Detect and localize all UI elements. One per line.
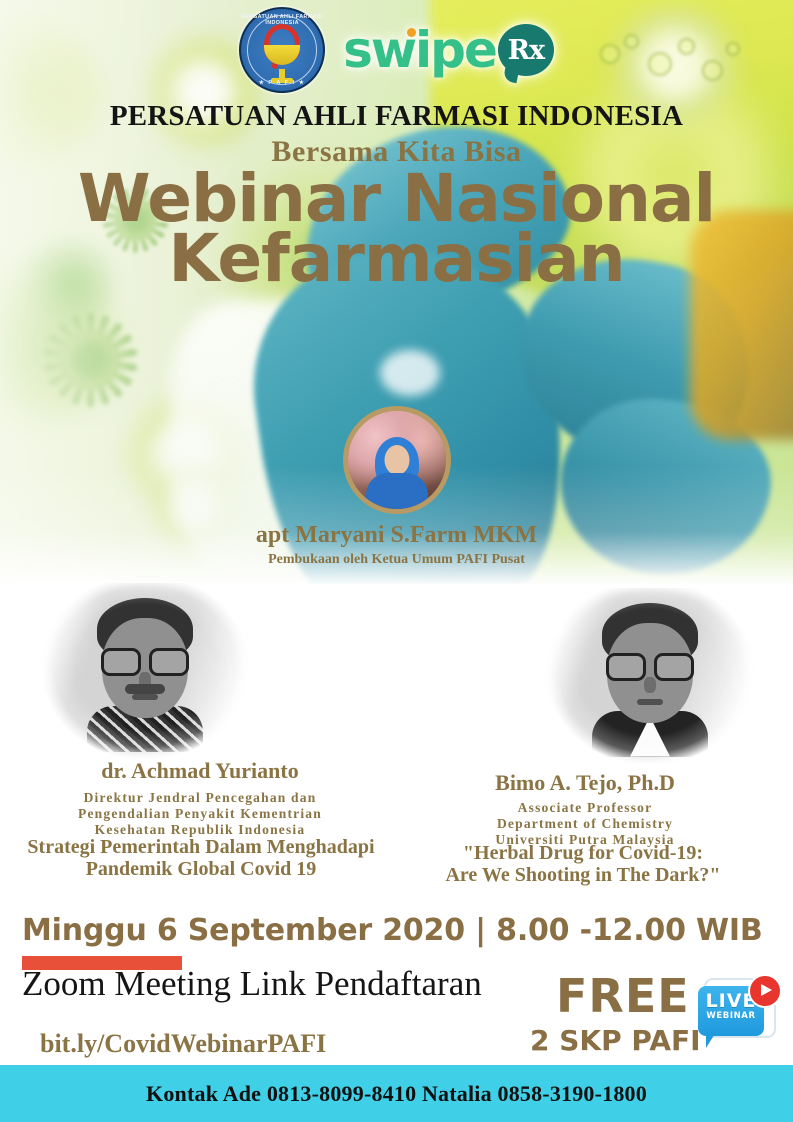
nose (644, 677, 656, 693)
mouth (637, 699, 663, 705)
play-icon (748, 974, 782, 1008)
avatar-body (366, 473, 428, 513)
logo-row: PERSATUAN AHLI FARMASI INDONESIA ★ P A F… (0, 8, 793, 92)
right-speaker-name: Bimo A. Tejo, Ph.D (385, 770, 785, 796)
registration-link[interactable]: bit.ly/CovidWebinarPAFI (40, 1029, 326, 1059)
left-speaker-role: Direktur Jendral Pencegahan dan Pengenda… (0, 790, 400, 838)
right-speaker-role: Associate Professor Department of Chemis… (385, 800, 785, 848)
left-speaker-photo (40, 583, 250, 758)
mouth (132, 694, 158, 700)
left-speaker-face (85, 596, 205, 746)
price-label: FREE (556, 969, 690, 1023)
badge-webinar-text: WEBINAR (698, 1011, 764, 1021)
contact-bar: Kontak Ade 0813-8099-8410 Natalia 0858-3… (0, 1065, 793, 1122)
left-speaker-topic: Strategi Pemerintah Dalam Menghadapi Pan… (0, 836, 416, 881)
event-datetime: Minggu 6 September 2020 | 8.00 -12.00 WI… (22, 913, 763, 948)
eyeglasses-icon (101, 648, 189, 670)
content-panel: apt Maryani S.Farm MKM Pembukaan oleh Ke… (0, 584, 793, 1122)
page-title-line2: Kefarmasian (0, 226, 793, 292)
credits-label: 2 SKP PAFI (530, 1024, 701, 1057)
right-speaker-topic: "Herbal Drug for Covid-19: Are We Shooti… (368, 842, 793, 887)
rx-bubble-icon: Rx (498, 24, 554, 76)
swiperx-logo: swipe Rx (343, 24, 554, 76)
glove-highlight (380, 350, 440, 396)
moustache (125, 684, 165, 694)
badge-bubble-tail (706, 1032, 716, 1048)
pafi-logo-arc-bottom: ★ P A F I ★ (241, 80, 323, 86)
right-speaker-photo (545, 588, 755, 763)
swipe-wordmark: swipe (343, 25, 496, 75)
platform-line: Zoom Meeting Link Pendaftaran (22, 964, 482, 1004)
webinar-poster: PERSATUAN AHLI FARMASI INDONESIA ★ P A F… (0, 0, 793, 1122)
contact-text: Kontak Ade 0813-8099-8410 Natalia 0858-3… (146, 1081, 647, 1107)
left-speaker-name: dr. Achmad Yurianto (0, 758, 400, 784)
pafi-logo-icon: PERSATUAN AHLI FARMASI INDONESIA ★ P A F… (239, 7, 325, 93)
avatar-face (384, 445, 409, 475)
eyeglasses-icon (606, 653, 694, 675)
live-webinar-badge: LIVE WEBINAR (698, 974, 784, 1054)
center-speaker-subtitle: Pembukaan oleh Ketua Umum PAFI Pusat (0, 552, 793, 568)
organization-name: PERSATUAN AHLI FARMASI INDONESIA (0, 100, 793, 133)
center-speaker-name: apt Maryani S.Farm MKM (0, 522, 793, 549)
avatar (343, 406, 451, 514)
right-speaker-face (590, 601, 710, 751)
rx-label: Rx (508, 35, 545, 66)
